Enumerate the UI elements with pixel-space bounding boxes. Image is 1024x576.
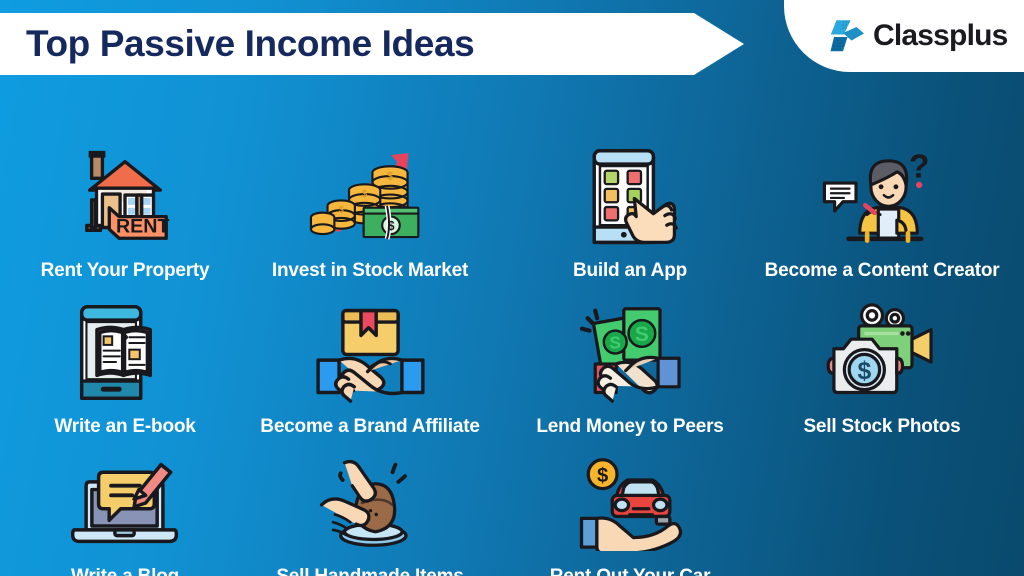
coin-stacks-growth-arrow-icon: $ $ $ $: [305, 142, 435, 252]
idea-card-write-a-blog: Write a Blog: [0, 428, 250, 576]
idea-card-build-an-app: Build an App: [490, 102, 770, 282]
idea-card-lend-money-to-peers: S S Lend Money to Peers: [490, 278, 770, 438]
brand-name: Classplus: [873, 19, 1008, 53]
title-banner: Top Passive Income Ideas: [0, 13, 744, 75]
camera-video-dollar-lens-icon: $: [817, 298, 947, 408]
idea-card-sell-handmade-items: Sell Handmade Items: [250, 428, 490, 576]
svg-text:$: $: [387, 219, 394, 233]
person-writing-speech-bubble-icon: ?: [817, 142, 947, 252]
ideas-grid: RENT Rent Your Property: [0, 88, 1024, 576]
phone-open-book-icon: [60, 298, 190, 408]
brand-logo-panel: Classplus: [784, 0, 1024, 72]
idea-card-sell-stock-photos: $ Sell Stock Photos: [740, 278, 1024, 438]
idea-card-rent-out-your-car: $ Rent Out Your Car: [490, 428, 770, 576]
hands-pottery-wheel-icon: [305, 448, 435, 558]
svg-text:RENT: RENT: [116, 215, 169, 237]
idea-card-rent-your-property: RENT Rent Your Property: [0, 102, 250, 282]
idea-card-write-an-e-book: Write an E-book: [0, 278, 250, 438]
tablet-app-grid-hand-icon: [565, 142, 695, 252]
idea-label: Sell Handmade Items: [276, 566, 463, 576]
infographic-poster: Top Passive Income Ideas: [0, 0, 1024, 576]
handshake-package-box-icon: [305, 298, 435, 408]
idea-card-become-a-brand-affiliate: Become a Brand Affiliate: [250, 278, 490, 438]
svg-text:$: $: [387, 170, 393, 182]
house-rent-sign-icon: RENT: [60, 142, 190, 252]
svg-text:$: $: [362, 189, 368, 200]
svg-text:?: ?: [909, 149, 929, 186]
idea-label: Write a Blog: [71, 566, 179, 576]
svg-text:$: $: [857, 358, 871, 385]
idea-label: Sell Stock Photos: [803, 416, 960, 438]
classplus-chevron-icon: [830, 18, 866, 54]
handshake-dollar-bills-icon: S S: [565, 298, 695, 408]
svg-text:$: $: [597, 465, 608, 487]
idea-label: Rent Out Your Car: [550, 566, 711, 576]
svg-text:$: $: [339, 205, 344, 215]
page-title: Top Passive Income Ideas: [26, 23, 474, 65]
svg-text:S: S: [610, 333, 621, 353]
svg-text:S: S: [635, 323, 649, 346]
hand-car-coin-icon: $: [565, 448, 695, 558]
header: Top Passive Income Ideas: [0, 0, 1024, 86]
laptop-speech-bubble-pencil-icon: [60, 448, 190, 558]
idea-card-become-a-content-creator: ? Become a Content Creator: [740, 102, 1024, 282]
idea-card-invest-in-stock-market: $ $ $ $ Invest in Stock Market: [250, 102, 490, 282]
